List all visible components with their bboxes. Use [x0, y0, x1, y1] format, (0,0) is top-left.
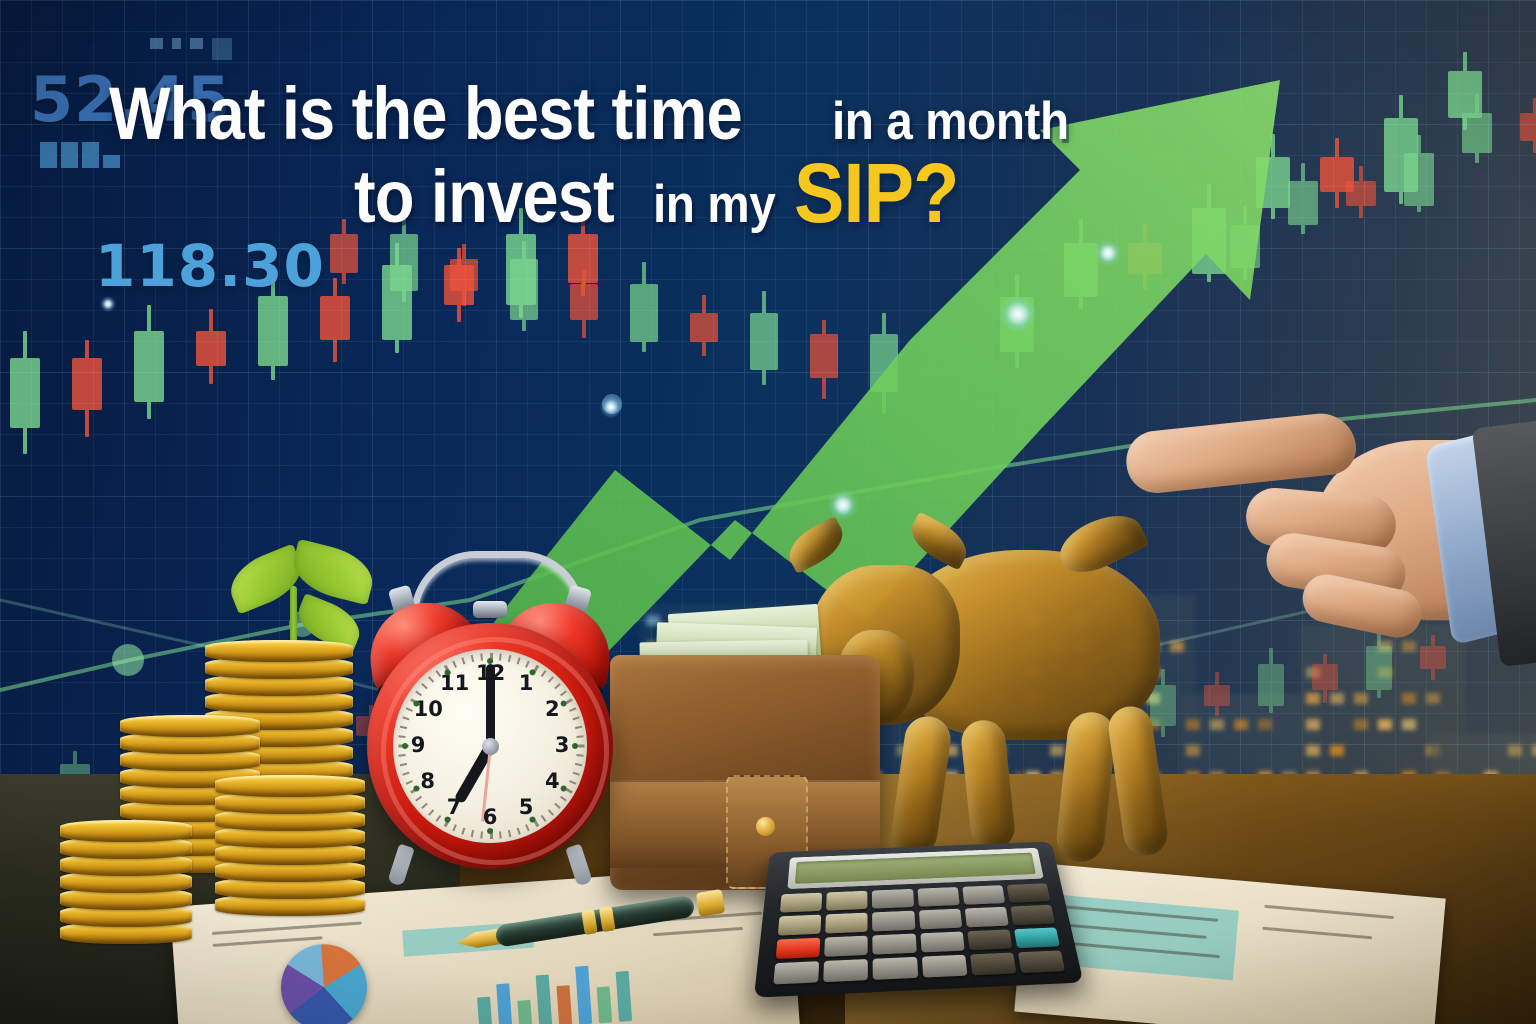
- headline-line2-sub: in my: [653, 180, 775, 231]
- coin-top: [205, 631, 353, 657]
- headline: What is the best time in a month to inve…: [0, 78, 1180, 234]
- coin-top: [120, 706, 260, 732]
- headline-highlight-sip: SIP?: [794, 153, 958, 234]
- banner-canvas: 52.45 118.30 What is the best time in a …: [0, 0, 1536, 1024]
- headline-line1-main: What is the best time: [109, 78, 742, 149]
- headline-line2-main: to invest: [354, 161, 614, 232]
- coin-top: [215, 766, 365, 792]
- headline-line1-sub: in a month: [832, 97, 1069, 148]
- coin-top: [60, 811, 192, 837]
